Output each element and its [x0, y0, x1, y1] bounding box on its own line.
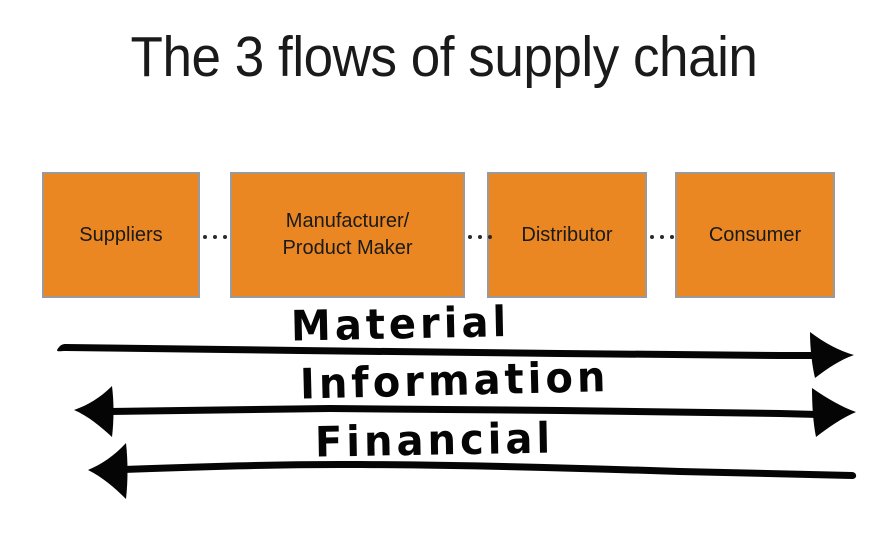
chain-node-label: Consumer [709, 222, 801, 249]
ellipsis-dots-icon [468, 229, 492, 245]
dot-icon [223, 235, 227, 239]
dot-icon [488, 235, 492, 239]
page-title: The 3 flows of supply chain [31, 28, 857, 88]
dot-icon [468, 235, 472, 239]
chain-node-suppliers[interactable]: Suppliers [42, 172, 200, 298]
chain-node-manufacturer[interactable]: Manufacturer/ Product Maker [230, 172, 465, 298]
information-flow-arrowhead-right [812, 388, 856, 437]
dot-icon [650, 235, 654, 239]
flow-label-material: Material [290, 298, 510, 351]
dot-icon [670, 235, 674, 239]
dot-icon [213, 235, 217, 239]
ellipsis-dots-icon [203, 229, 227, 245]
slide-canvas: The 3 flows of supply chain Suppliers Ma… [0, 0, 888, 552]
chain-node-consumer[interactable]: Consumer [675, 172, 835, 298]
financial-flow-arrowhead-left [88, 443, 128, 499]
chain-node-label: Manufacturer/ Product Maker [282, 208, 412, 262]
chain-node-label: Suppliers [79, 222, 162, 249]
dot-icon [478, 235, 482, 239]
ellipsis-dots-icon [650, 229, 674, 245]
dot-icon [660, 235, 664, 239]
chain-node-label: Distributor [521, 222, 612, 249]
flow-label-financial: Financial [315, 415, 555, 467]
chain-node-distributor[interactable]: Distributor [487, 172, 647, 298]
flow-label-information: Information [299, 353, 610, 409]
dot-icon [203, 235, 207, 239]
information-flow-arrowhead-left [74, 386, 114, 437]
material-flow-arrowhead-right [810, 332, 854, 378]
